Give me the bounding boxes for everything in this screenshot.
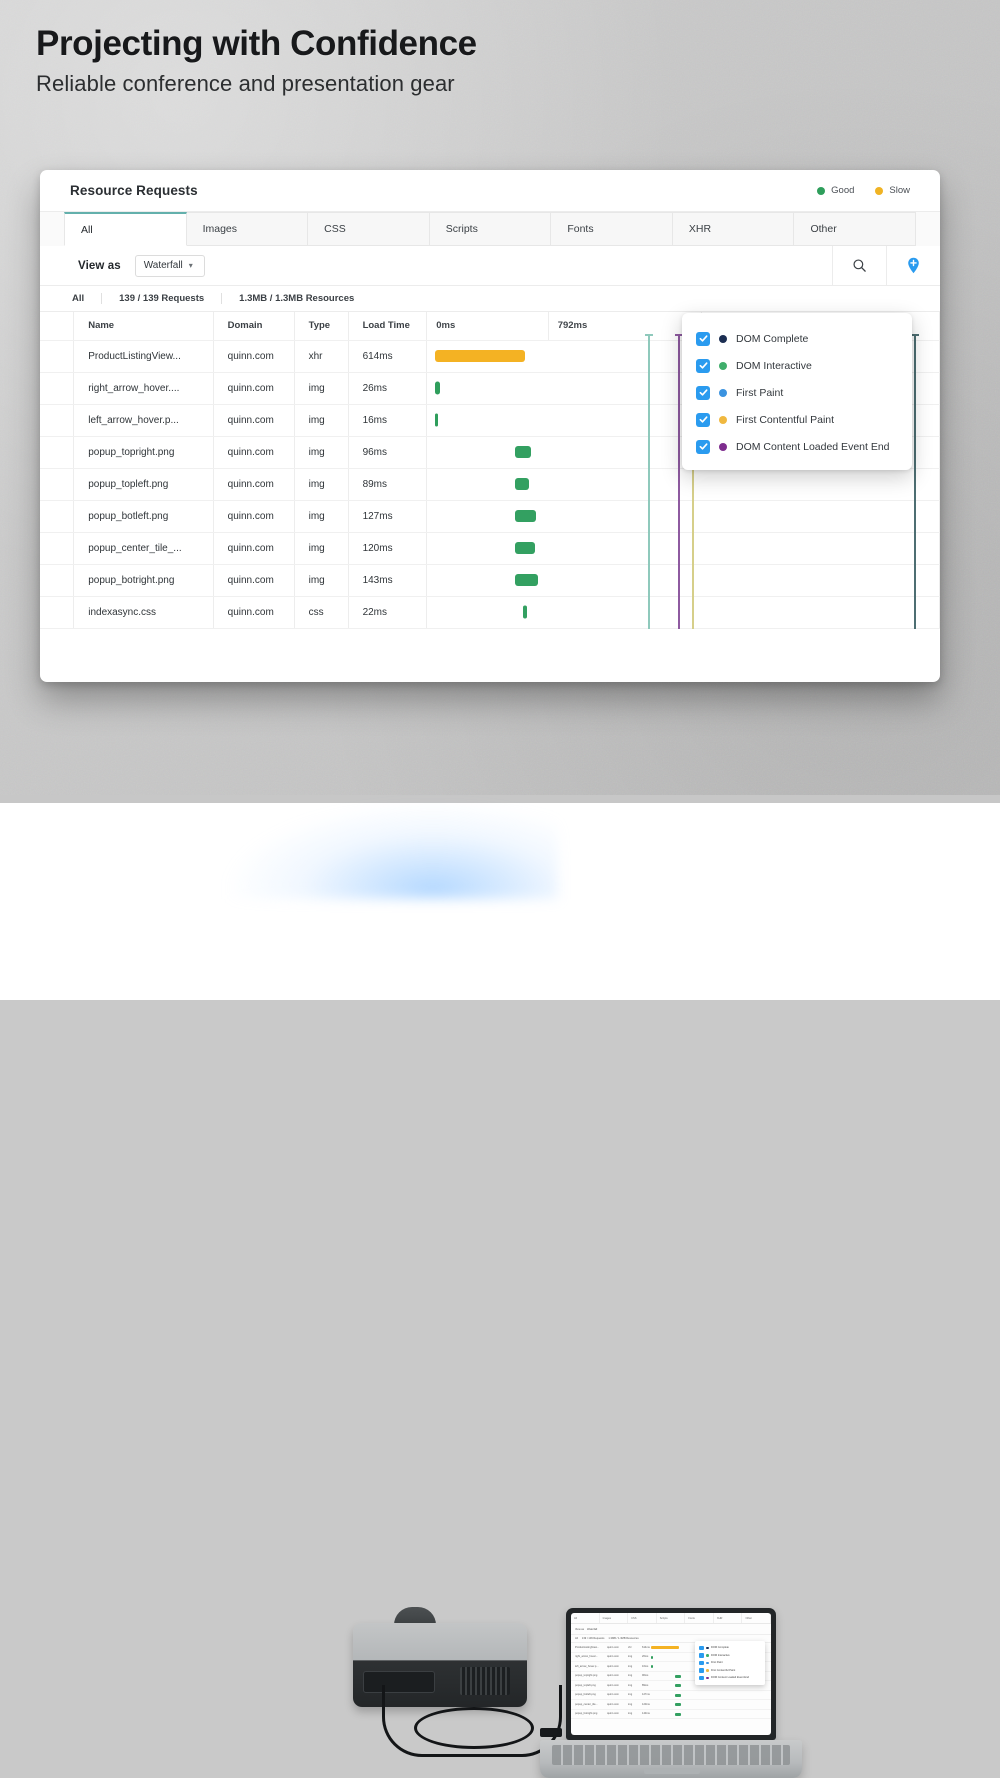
- cell-domain: quinn.com: [213, 532, 294, 564]
- cell-type: xhr: [294, 340, 348, 372]
- cell-type: img: [294, 532, 348, 564]
- mini-tab: Other: [742, 1613, 771, 1623]
- legend-label-slow: Slow: [889, 185, 910, 196]
- table-row[interactable]: popup_botright.pngquinn.comimg143ms: [40, 564, 940, 596]
- metric-color-dot: [719, 362, 727, 370]
- search-button[interactable]: [832, 246, 886, 286]
- mini-waterfall-bar: [675, 1694, 681, 1697]
- mini-cell-domain: quinn.com: [607, 1665, 622, 1668]
- summary-filter: All: [72, 293, 101, 304]
- mini-summary-filter: All: [575, 1637, 578, 1640]
- mini-cell-domain: quinn.com: [607, 1693, 622, 1696]
- laptop-trackpad: [644, 1768, 700, 1774]
- timeline-tick-1: 792ms: [548, 312, 701, 340]
- mini-cell-domain: quinn.com: [607, 1703, 622, 1706]
- waterfall-bar: [515, 574, 538, 586]
- row-gutter: [40, 404, 74, 436]
- mini-row: popup_center_tile...quinn.comimg120ms: [571, 1700, 771, 1710]
- mini-cell-name: ProductListingView...: [575, 1646, 601, 1649]
- mini-view-as-label: View as: [575, 1628, 584, 1631]
- checkbox-checked-icon[interactable]: [696, 413, 710, 427]
- header-domain[interactable]: Domain: [213, 312, 294, 340]
- mini-waterfall-bar: [675, 1684, 681, 1687]
- mini-summary-resources: 1.3MB / 1.3MB Resources: [608, 1637, 638, 1640]
- cell-waterfall: [427, 468, 940, 500]
- mini-cell-type: img: [628, 1665, 636, 1668]
- mini-checkbox-icon: [699, 1646, 704, 1651]
- metric-color-dot: [719, 416, 727, 424]
- view-as-select[interactable]: Waterfall ▾: [135, 255, 205, 277]
- metric-option[interactable]: DOM Complete: [682, 325, 912, 352]
- header-type[interactable]: Type: [294, 312, 348, 340]
- mini-row: popup_botleft.pngquinn.comimg127ms: [571, 1691, 771, 1701]
- cell-type: img: [294, 500, 348, 532]
- row-gutter: [40, 564, 74, 596]
- summary-bar: All 139 / 139 Requests 1.3MB / 1.3MB Res…: [40, 286, 940, 312]
- mini-cell-load: 26ms: [642, 1655, 655, 1658]
- cell-name: popup_topright.png: [74, 436, 213, 468]
- tab-fonts[interactable]: Fonts: [551, 212, 673, 246]
- mini-view-as-value: Waterfall: [587, 1628, 597, 1631]
- mini-cell-name: right_arrow_hover...: [575, 1655, 601, 1658]
- mini-color-dot: [706, 1654, 709, 1657]
- chevron-down-icon: ▾: [189, 261, 193, 270]
- mini-color-dot: [706, 1647, 709, 1650]
- cell-domain: quinn.com: [213, 436, 294, 468]
- checkbox-checked-icon[interactable]: [696, 359, 710, 373]
- mini-cell-domain: quinn.com: [607, 1684, 622, 1687]
- metric-option[interactable]: First Contentful Paint: [682, 406, 912, 433]
- cell-name: left_arrow_hover.p...: [74, 404, 213, 436]
- cell-waterfall: [427, 500, 940, 532]
- cell-domain: quinn.com: [213, 340, 294, 372]
- cell-type: img: [294, 404, 348, 436]
- table-row[interactable]: popup_botleft.pngquinn.comimg127ms: [40, 500, 940, 532]
- cell-domain: quinn.com: [213, 404, 294, 436]
- metric-color-dot: [719, 335, 727, 343]
- tab-all[interactable]: All: [64, 212, 187, 246]
- mini-cell-type: img: [628, 1655, 636, 1658]
- checkbox-checked-icon[interactable]: [696, 332, 710, 346]
- checkbox-checked-icon[interactable]: [696, 386, 710, 400]
- tab-scripts[interactable]: Scripts: [430, 212, 552, 246]
- table-row[interactable]: popup_topleft.pngquinn.comimg89ms: [40, 468, 940, 500]
- laptop-base: [540, 1740, 802, 1778]
- cell-type: img: [294, 468, 348, 500]
- mini-cell-type: img: [628, 1703, 636, 1706]
- row-gutter: [40, 596, 74, 628]
- mini-toolbar: View as Waterfall: [571, 1624, 771, 1635]
- mini-waterfall-bar: [675, 1675, 681, 1678]
- cell-load-time: 614ms: [348, 340, 427, 372]
- mini-tabs: AllImagesCSSScriptsFontsXHROther: [571, 1613, 771, 1624]
- mini-cell-name: popup_topright.png: [575, 1674, 601, 1677]
- cell-load-time: 16ms: [348, 404, 427, 436]
- mini-row: popup_botright.pngquinn.comimg143ms: [571, 1710, 771, 1720]
- mini-dropdown: DOM CompleteDOM InteractiveFirst PaintFi…: [695, 1641, 765, 1685]
- cell-name: indexasync.css: [74, 596, 213, 628]
- page-title: Projecting with Confidence: [36, 22, 736, 66]
- laptop-keyboard: [552, 1745, 790, 1765]
- mini-tab: Scripts: [657, 1613, 686, 1623]
- cell-name: right_arrow_hover....: [74, 372, 213, 404]
- tab-images[interactable]: Images: [187, 212, 309, 246]
- mini-tab: All: [571, 1613, 600, 1623]
- cell-name: popup_botright.png: [74, 564, 213, 596]
- cell-type: img: [294, 372, 348, 404]
- summary-requests: 139 / 139 Requests: [102, 293, 221, 304]
- waterfall-bar: [523, 606, 527, 619]
- mini-checkbox-icon: [699, 1661, 704, 1666]
- cell-waterfall: [427, 596, 940, 628]
- hdmi-cable-loop: [414, 1707, 534, 1749]
- timeline-tick-0: 0ms: [427, 312, 548, 340]
- mini-cell-load: 143ms: [642, 1712, 655, 1715]
- legend-item-slow: Slow: [875, 185, 910, 196]
- cell-load-time: 22ms: [348, 596, 427, 628]
- mini-option-label: First Paint: [711, 1661, 723, 1664]
- metric-color-dot: [719, 443, 727, 451]
- cell-load-time: 89ms: [348, 468, 427, 500]
- mini-cell-domain: quinn.com: [607, 1712, 622, 1715]
- table-row[interactable]: indexasync.cssquinn.comcss22ms: [40, 596, 940, 628]
- headline-block: Projecting with Confidence Reliable conf…: [36, 22, 736, 99]
- header-load-time[interactable]: Load Time: [348, 312, 427, 340]
- cell-domain: quinn.com: [213, 372, 294, 404]
- mini-checkbox-icon: [699, 1668, 704, 1673]
- mini-dropdown-option: DOM Complete: [695, 1644, 765, 1652]
- mini-waterfall-bar: [651, 1646, 679, 1649]
- tab-other[interactable]: Other: [794, 212, 916, 246]
- card-title: Resource Requests: [70, 183, 198, 198]
- row-gutter: [40, 468, 74, 500]
- header-gutter: [40, 312, 74, 340]
- row-gutter: [40, 340, 74, 372]
- mini-cell-domain: quinn.com: [607, 1646, 622, 1649]
- mini-cell-load: 89ms: [642, 1684, 655, 1687]
- mini-option-label: First Contentful Paint: [711, 1669, 735, 1672]
- mini-dropdown-option: DOM Interactive: [695, 1652, 765, 1660]
- mini-cell-name: popup_center_tile...: [575, 1703, 601, 1706]
- photo-top-strip: [0, 795, 1000, 803]
- legend-label-good: Good: [831, 185, 854, 196]
- cell-type: img: [294, 436, 348, 468]
- cell-type: img: [294, 564, 348, 596]
- cell-name: ProductListingView...: [74, 340, 213, 372]
- view-toolbar: View as Waterfall ▾: [40, 246, 940, 286]
- waterfall-bar: [515, 478, 529, 490]
- waterfall-bar: [515, 542, 535, 554]
- row-gutter: [40, 532, 74, 564]
- mini-cell-name: popup_botleft.png: [575, 1693, 601, 1696]
- resource-requests-card: Resource Requests Good Slow All Images C…: [40, 170, 940, 682]
- mini-checkbox-icon: [699, 1676, 704, 1681]
- mini-tab: XHR: [714, 1613, 743, 1623]
- card-header: Resource Requests Good Slow: [40, 170, 940, 212]
- mini-tab: Images: [600, 1613, 629, 1623]
- checkbox-checked-icon[interactable]: [696, 440, 710, 454]
- mini-cell-load: 96ms: [642, 1674, 655, 1677]
- view-as-label: View as: [78, 260, 121, 272]
- row-gutter: [40, 372, 74, 404]
- cell-type: css: [294, 596, 348, 628]
- mini-cell-type: xhr: [628, 1646, 636, 1649]
- mini-cell-name: left_arrow_hover.p...: [575, 1665, 601, 1668]
- cell-waterfall: [427, 532, 940, 564]
- metric-option[interactable]: First Paint: [682, 379, 912, 406]
- mini-cell-type: img: [628, 1693, 636, 1696]
- add-marker-icon: [906, 257, 921, 274]
- mini-tab: Fonts: [685, 1613, 714, 1623]
- mini-cell-load: 16ms: [642, 1665, 655, 1668]
- mini-dropdown-option: First Contentful Paint: [695, 1667, 765, 1675]
- legend-item-good: Good: [817, 185, 854, 196]
- mini-cell-domain: quinn.com: [607, 1674, 622, 1677]
- row-gutter: [40, 436, 74, 468]
- mini-waterfall-bar: [675, 1703, 681, 1706]
- waterfall-bar: [515, 446, 531, 458]
- laptop-screen: AllImagesCSSScriptsFontsXHROther View as…: [571, 1613, 771, 1735]
- metric-label: First Paint: [736, 387, 783, 399]
- slow-dot-icon: [875, 187, 883, 195]
- metric-label: First Contentful Paint: [736, 414, 834, 426]
- mini-color-dot: [706, 1662, 709, 1665]
- cell-name: popup_botleft.png: [74, 500, 213, 532]
- waterfall-bar: [515, 510, 536, 522]
- mini-dropdown-option: DOM Content Loaded Event End: [695, 1674, 765, 1682]
- mini-cell-type: img: [628, 1712, 636, 1715]
- mini-cell-name: popup_topleft.png: [575, 1684, 601, 1687]
- status-legend: Good Slow: [817, 185, 910, 196]
- add-marker-button[interactable]: [886, 246, 940, 286]
- mini-cell-load: 120ms: [642, 1703, 655, 1706]
- metric-label: DOM Interactive: [736, 360, 812, 372]
- cell-load-time: 96ms: [348, 436, 427, 468]
- table-row[interactable]: popup_center_tile_...quinn.comimg120ms: [40, 532, 940, 564]
- mini-color-dot: [706, 1669, 709, 1672]
- metric-option[interactable]: DOM Content Loaded Event End: [682, 433, 912, 460]
- metric-option[interactable]: DOM Interactive: [682, 352, 912, 379]
- cell-load-time: 127ms: [348, 500, 427, 532]
- mini-tab: CSS: [628, 1613, 657, 1623]
- cell-domain: quinn.com: [213, 564, 294, 596]
- header-name[interactable]: Name: [74, 312, 213, 340]
- projection-beam: [228, 803, 558, 899]
- view-as-value: Waterfall: [144, 260, 183, 271]
- metric-label: DOM Content Loaded Event End: [736, 441, 890, 453]
- tab-css[interactable]: CSS: [308, 212, 430, 246]
- metric-color-dot: [719, 389, 727, 397]
- cell-domain: quinn.com: [213, 468, 294, 500]
- mini-cell-load: 127ms: [642, 1693, 655, 1696]
- page-subtitle: Reliable conference and presentation gea…: [36, 69, 736, 99]
- cell-name: popup_topleft.png: [74, 468, 213, 500]
- tab-xhr[interactable]: XHR: [673, 212, 795, 246]
- row-gutter: [40, 500, 74, 532]
- mini-waterfall-bar: [651, 1656, 653, 1659]
- mini-checkbox-icon: [699, 1653, 704, 1658]
- mini-cell-type: img: [628, 1684, 636, 1687]
- mini-cell-name: popup_botright.png: [575, 1712, 601, 1715]
- mini-color-dot: [706, 1677, 709, 1680]
- mini-waterfall-bar: [651, 1665, 653, 1668]
- waterfall-bar: [435, 414, 438, 427]
- mini-waterfall-bar: [675, 1713, 681, 1716]
- cell-load-time: 26ms: [348, 372, 427, 404]
- waterfall-bar: [435, 350, 525, 362]
- cell-domain: quinn.com: [213, 500, 294, 532]
- mini-cell-type: img: [628, 1674, 636, 1677]
- mini-cell-domain: quinn.com: [607, 1655, 622, 1658]
- cell-waterfall: [427, 564, 940, 596]
- hdmi-cable-plug: [540, 1728, 562, 1737]
- metric-filter-dropdown[interactable]: DOM CompleteDOM InteractiveFirst PaintFi…: [682, 313, 912, 470]
- good-dot-icon: [817, 187, 825, 195]
- waterfall-bar: [435, 382, 440, 395]
- mini-option-label: DOM Content Loaded Event End: [711, 1676, 749, 1679]
- cell-name: popup_center_tile_...: [74, 532, 213, 564]
- resource-type-tabs: All Images CSS Scripts Fonts XHR Other: [40, 212, 940, 246]
- toolbar-actions: [832, 246, 940, 286]
- summary-resources: 1.3MB / 1.3MB Resources: [222, 293, 371, 304]
- search-icon: [852, 258, 867, 273]
- mini-summary-requests: 139 / 139 Requests: [582, 1637, 605, 1640]
- cell-load-time: 143ms: [348, 564, 427, 596]
- laptop-device: AllImagesCSSScriptsFontsXHROther View as…: [566, 1608, 776, 1740]
- mini-dropdown-option: First Paint: [695, 1659, 765, 1667]
- mini-option-label: DOM Interactive: [711, 1654, 730, 1657]
- product-photo: AllImagesCSSScriptsFontsXHROther View as…: [0, 795, 1000, 1000]
- metric-label: DOM Complete: [736, 333, 808, 345]
- mini-option-label: DOM Complete: [711, 1646, 729, 1649]
- cell-domain: quinn.com: [213, 596, 294, 628]
- cell-load-time: 120ms: [348, 532, 427, 564]
